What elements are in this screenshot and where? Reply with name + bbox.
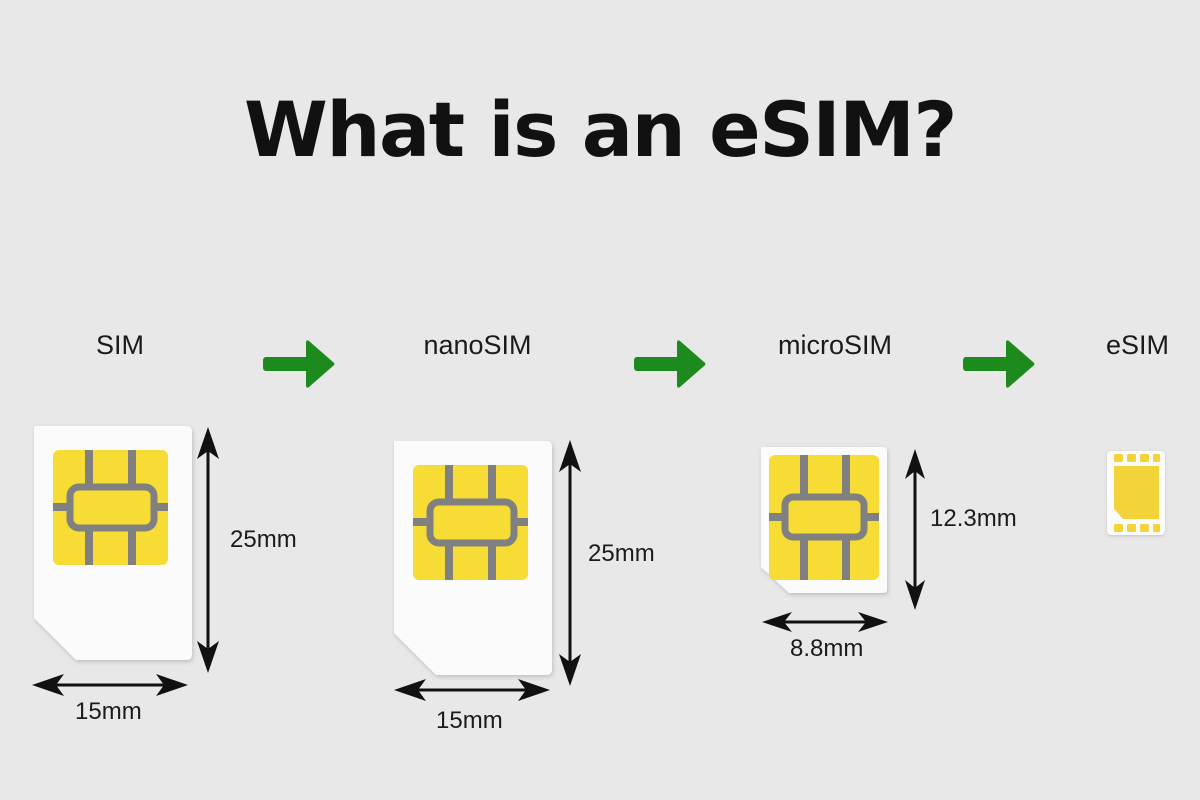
dimension-arrow-height-nanosim bbox=[550, 438, 590, 688]
sim-card-icon bbox=[757, 443, 897, 603]
dimension-label-width-sim: 15mm bbox=[75, 698, 142, 726]
dimension-arrow-width-microsim bbox=[760, 608, 890, 636]
sim-evolution-diagram: SIM bbox=[0, 0, 1200, 800]
step-label-nanosim: nanoSIM bbox=[370, 330, 585, 361]
esim-infographic: What is an eSIM? SIM bbox=[0, 0, 1200, 800]
dimension-label-height-nanosim: 25mm bbox=[588, 540, 655, 568]
dimension-label-height-microsim: 12.3mm bbox=[930, 505, 1017, 533]
dimension-arrow-height-sim bbox=[188, 425, 228, 675]
dimension-label-height-sim: 25mm bbox=[230, 526, 297, 554]
arrow-right-icon-2 bbox=[633, 338, 708, 390]
dimension-arrow-width-nanosim bbox=[392, 675, 552, 705]
step-label-sim: SIM bbox=[10, 330, 230, 361]
dimension-label-width-nanosim: 15mm bbox=[436, 707, 503, 735]
dimension-arrow-width-sim bbox=[30, 670, 190, 700]
dimension-arrow-height-microsim bbox=[895, 447, 935, 612]
esim-chip-icon bbox=[1103, 447, 1173, 542]
step-label-esim: eSIM bbox=[1050, 330, 1200, 361]
arrow-right-icon-3 bbox=[962, 338, 1037, 390]
step-label-microsim: microSIM bbox=[735, 330, 935, 361]
dimension-label-width-microsim: 8.8mm bbox=[790, 635, 863, 663]
arrow-right-icon-1 bbox=[262, 338, 337, 390]
